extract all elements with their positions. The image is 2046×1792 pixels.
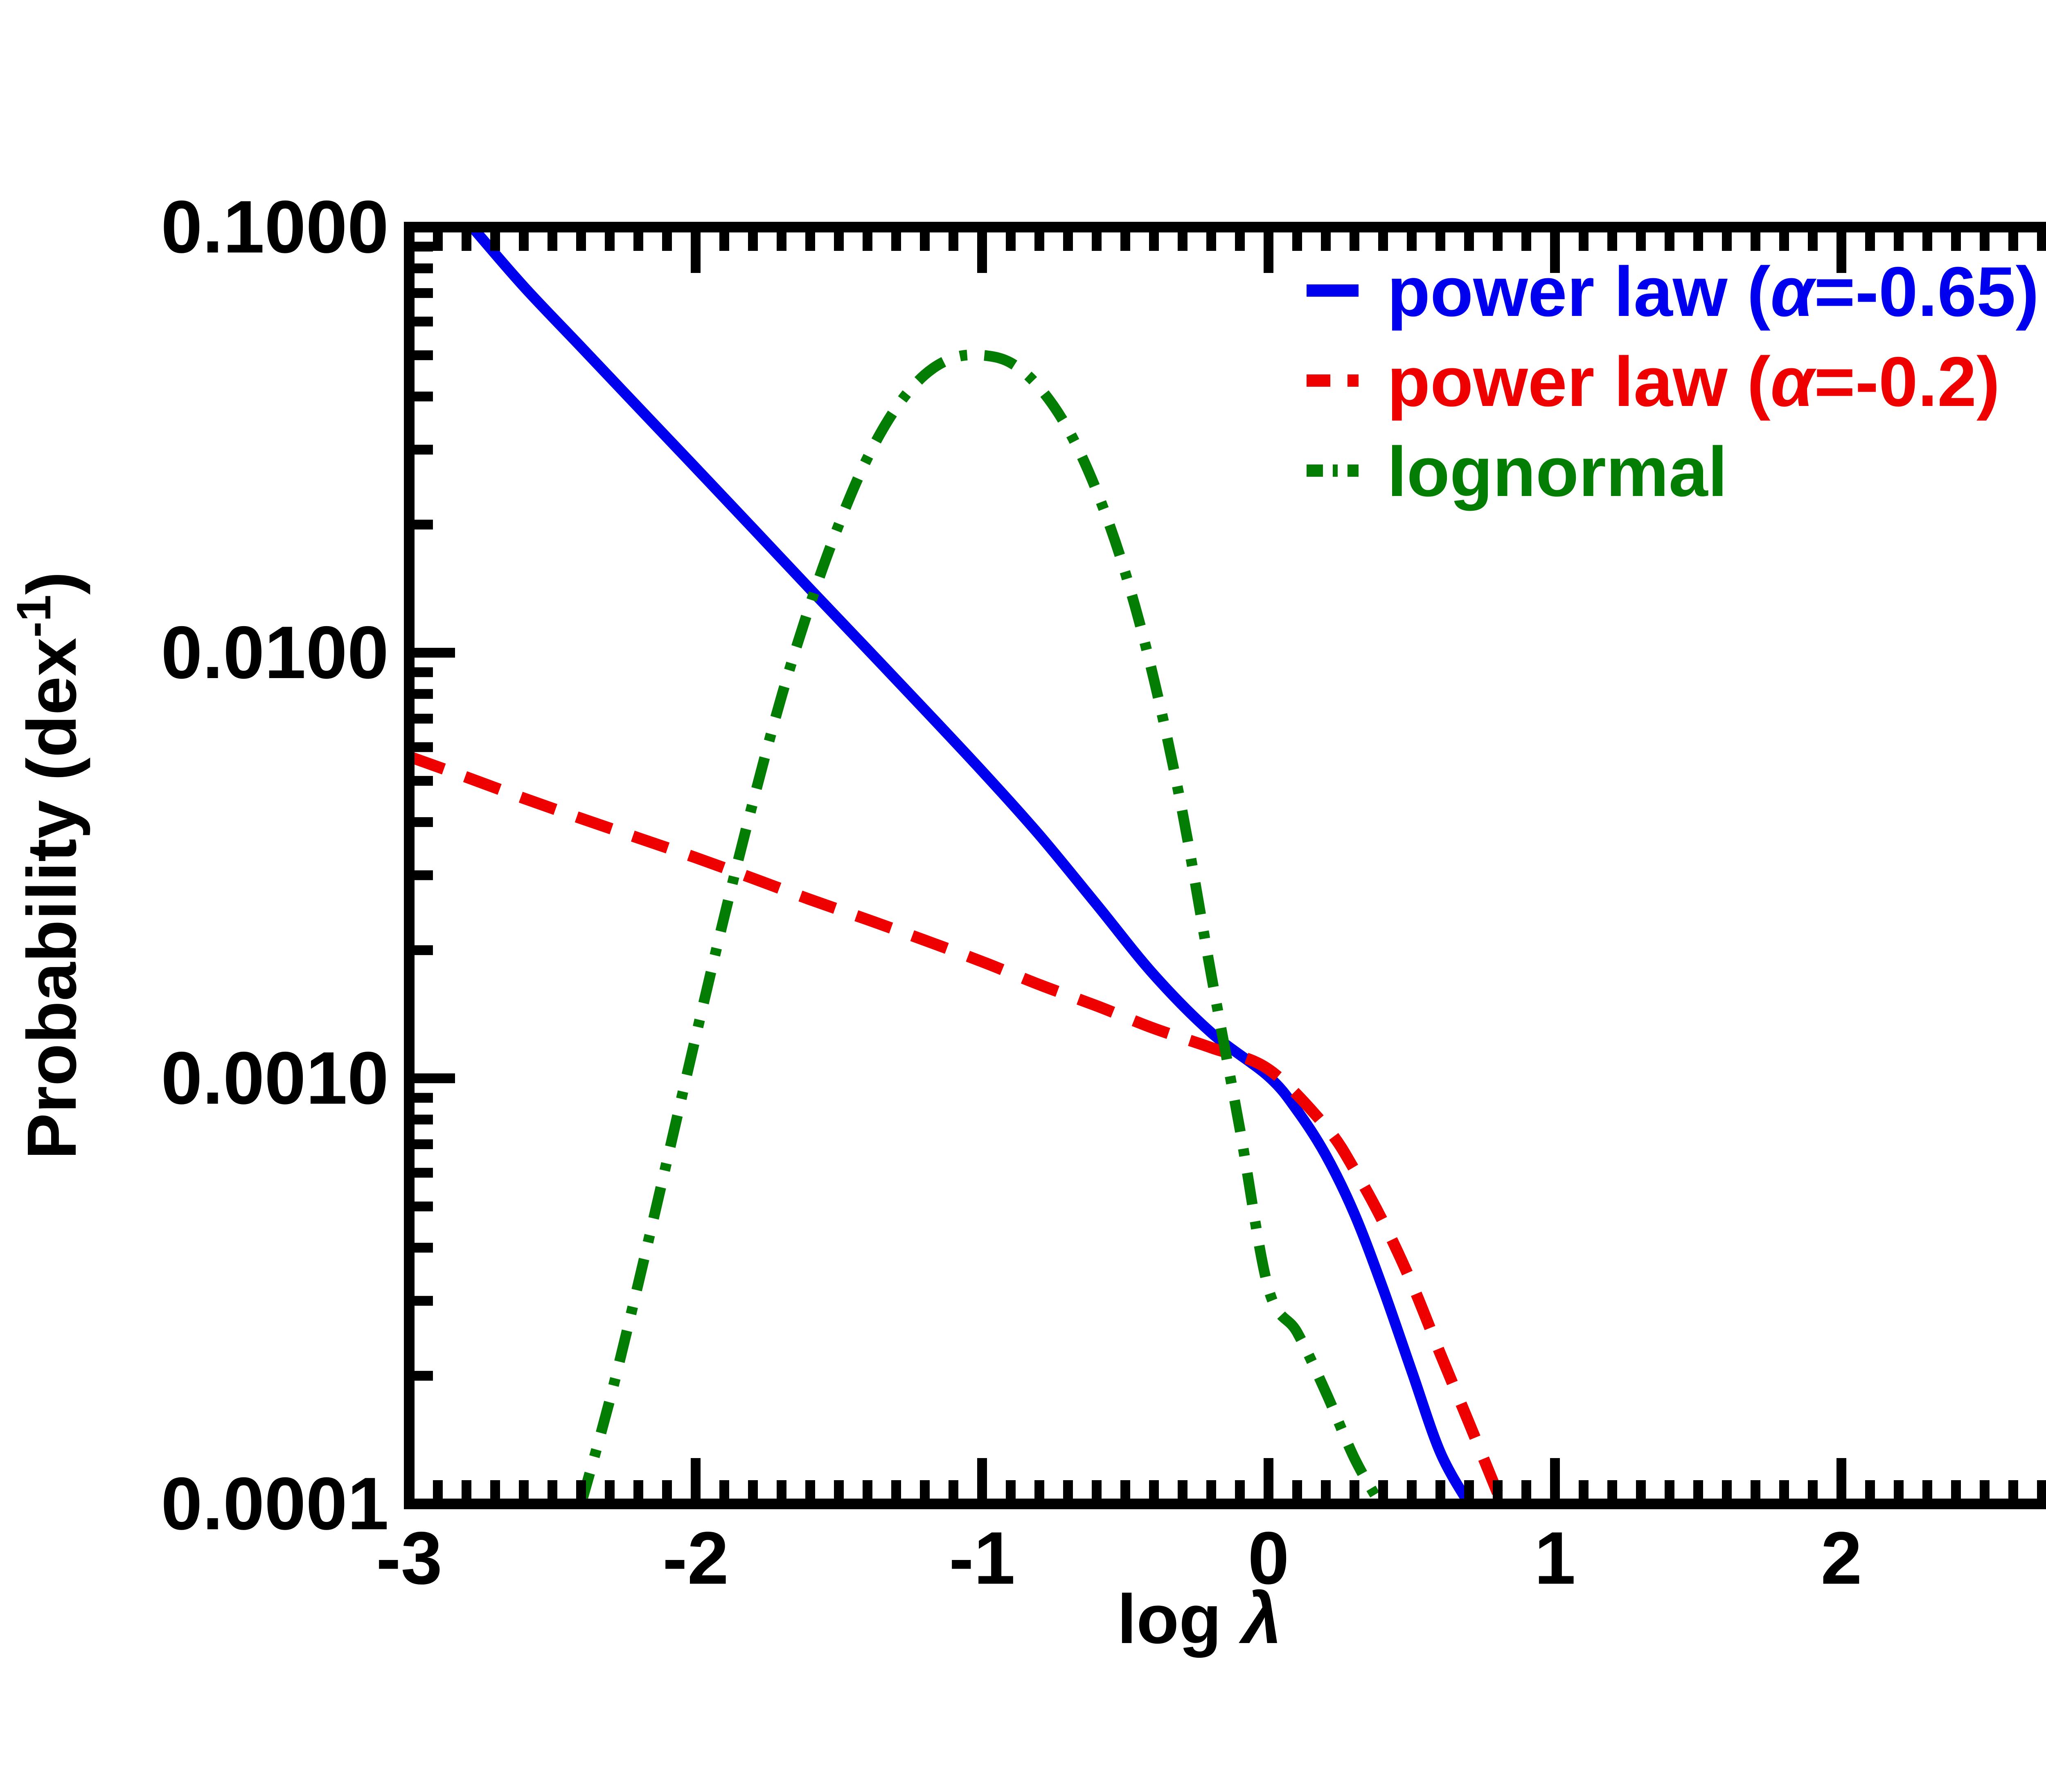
x-tick-label: -1 bbox=[949, 1516, 1015, 1600]
y-axis-title: Probability (dex-1) bbox=[7, 572, 91, 1160]
y-tick-label: 0.0100 bbox=[161, 611, 389, 694]
x-axis-title: log λ bbox=[1117, 1579, 1282, 1659]
y-axis-title-text: Probability (dex-1) bbox=[7, 572, 91, 1160]
legend-0-suffix: =-0.65) bbox=[1814, 252, 2039, 331]
y-tick-label: 0.0001 bbox=[161, 1462, 389, 1545]
x-tick-label: 1 bbox=[1534, 1516, 1575, 1600]
legend-2-prefix: lognormal bbox=[1387, 433, 1727, 511]
legend-item-power-law-065[interactable]: power law (α=-0.65) bbox=[1307, 252, 2039, 331]
legend-1-suffix: =-0.2) bbox=[1814, 343, 2000, 421]
legend-0-alpha-symbol: α bbox=[1771, 252, 1817, 331]
y-axis-title-paren: ) bbox=[13, 572, 91, 595]
x-tick-label: -2 bbox=[662, 1516, 729, 1600]
y-tick-label: 0.0010 bbox=[161, 1036, 389, 1120]
y-tick-label: 0.1000 bbox=[161, 185, 389, 268]
x-axis-title-text: log bbox=[1117, 1580, 1221, 1658]
x-tick-label: 2 bbox=[1821, 1516, 1862, 1600]
legend-0-prefix: power law ( bbox=[1387, 252, 1771, 331]
legend-item-power-law-02[interactable]: power law (α=-0.2) bbox=[1307, 343, 2000, 421]
legend-label-power-law-065: power law (α=-0.65) bbox=[1387, 252, 2039, 331]
legend-1-alpha-symbol: α bbox=[1771, 343, 1817, 421]
legend-label-power-law-02: power law (α=-0.2) bbox=[1387, 343, 2000, 421]
chart-canvas: -3-2-10123 0.10000.01000.00100.0001 log … bbox=[0, 0, 2046, 1792]
y-axis-title-main: Probability (dex bbox=[13, 638, 91, 1159]
legend-1-prefix: power law ( bbox=[1387, 343, 1771, 421]
x-axis-lambda-symbol: λ bbox=[1239, 1579, 1282, 1659]
legend-label-lognormal: lognormal bbox=[1387, 433, 1727, 511]
probability-distribution-chart: -3-2-10123 0.10000.01000.00100.0001 log … bbox=[0, 0, 2046, 1792]
y-axis-title-exponent: -1 bbox=[7, 595, 61, 638]
